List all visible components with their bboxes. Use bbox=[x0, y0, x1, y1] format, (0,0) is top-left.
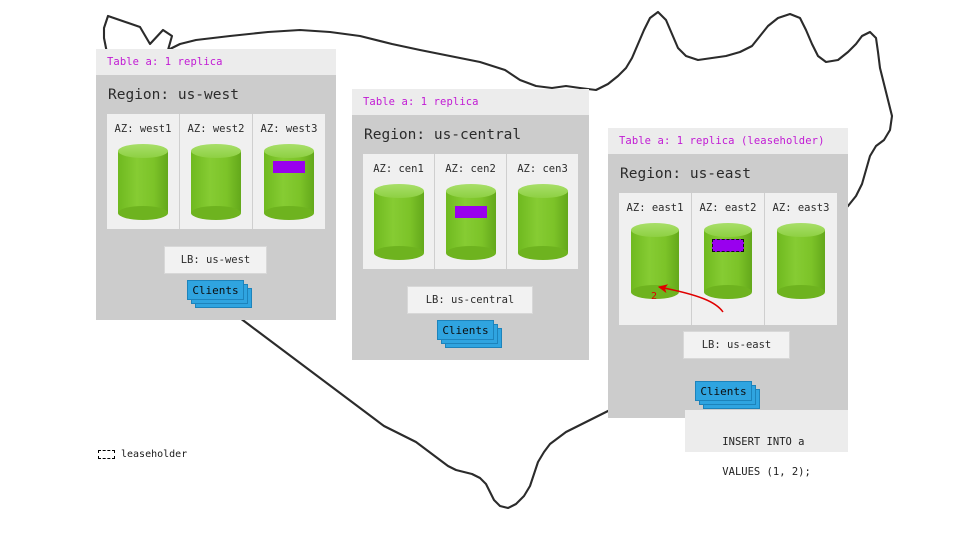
az-label-west3: AZ: west3 bbox=[253, 123, 325, 135]
az-label-east3: AZ: east3 bbox=[765, 202, 837, 214]
diagram-canvas: Table a: 1 replica Region: us-west AZ: w… bbox=[0, 0, 960, 540]
panel-header-us-central: Table a: 1 replica bbox=[352, 89, 589, 115]
replica-chip-cen2[interactable] bbox=[455, 206, 487, 218]
node-cylinder-west3[interactable] bbox=[264, 144, 314, 220]
az-label-cen1: AZ: cen1 bbox=[363, 163, 434, 175]
panel-body-us-central: Region: us-central AZ: cen1 AZ: cen2 bbox=[352, 115, 589, 360]
clients-stack-us-central[interactable]: Clients bbox=[437, 320, 503, 348]
az-cell-cen2[interactable]: AZ: cen2 bbox=[435, 154, 507, 269]
cylinder-body bbox=[191, 151, 241, 213]
cylinder-body bbox=[374, 191, 424, 253]
clients-button-us-west[interactable]: Clients bbox=[187, 280, 244, 300]
cylinder-bottom bbox=[518, 246, 568, 260]
node-cylinder-east2[interactable] bbox=[704, 223, 752, 299]
az-row-us-east: AZ: east1 AZ: east2 bbox=[619, 193, 837, 325]
az-row-us-central: AZ: cen1 AZ: cen2 bbox=[363, 154, 578, 269]
az-cell-east3[interactable]: AZ: east3 bbox=[765, 193, 837, 325]
replica-chip-west3[interactable] bbox=[273, 161, 305, 173]
arrow-label-2: 2 bbox=[651, 291, 657, 302]
az-cell-west3[interactable]: AZ: west3 bbox=[253, 114, 325, 229]
clients-stack-us-west[interactable]: Clients bbox=[187, 280, 253, 308]
az-row-us-west: AZ: west1 AZ: west2 bbox=[107, 114, 325, 229]
az-cell-cen3[interactable]: AZ: cen3 bbox=[507, 154, 578, 269]
cylinder-top bbox=[264, 144, 314, 158]
node-cylinder-cen1[interactable] bbox=[374, 184, 424, 260]
az-cell-west1[interactable]: AZ: west1 bbox=[107, 114, 180, 229]
az-label-east1: AZ: east1 bbox=[619, 202, 691, 214]
cylinder-bottom bbox=[446, 246, 496, 260]
node-cylinder-east1[interactable] bbox=[631, 223, 679, 299]
region-title-us-west: Region: us-west bbox=[107, 75, 325, 114]
cylinder-body bbox=[631, 230, 679, 292]
clients-stack-us-east[interactable]: Clients bbox=[695, 381, 761, 409]
load-balancer-us-east[interactable]: LB: us-east bbox=[683, 331, 790, 359]
node-cylinder-cen2[interactable] bbox=[446, 184, 496, 260]
az-label-cen3: AZ: cen3 bbox=[507, 163, 578, 175]
node-cylinder-west2[interactable] bbox=[191, 144, 241, 220]
cylinder-top bbox=[191, 144, 241, 158]
az-label-west2: AZ: west2 bbox=[180, 123, 252, 135]
node-cylinder-cen3[interactable] bbox=[518, 184, 568, 260]
sql-line-1: INSERT INTO a bbox=[722, 436, 804, 448]
region-panel-us-east[interactable]: Table a: 1 replica (leaseholder) Region:… bbox=[608, 128, 848, 418]
cylinder-bottom bbox=[264, 206, 314, 220]
az-label-east2: AZ: east2 bbox=[692, 202, 764, 214]
replica-chip-east2-leaseholder[interactable] bbox=[712, 239, 744, 252]
cylinder-top bbox=[631, 223, 679, 237]
load-balancer-us-central[interactable]: LB: us-central bbox=[407, 286, 533, 314]
panel-body-us-east: Region: us-east AZ: east1 AZ: east2 bbox=[608, 154, 848, 418]
cylinder-top bbox=[374, 184, 424, 198]
region-title-us-central: Region: us-central bbox=[363, 115, 578, 154]
leaseholder-swatch-icon bbox=[98, 450, 115, 459]
cylinder-body bbox=[446, 191, 496, 253]
region-panel-us-west[interactable]: Table a: 1 replica Region: us-west AZ: w… bbox=[96, 49, 336, 320]
cylinder-top bbox=[118, 144, 168, 158]
cylinder-bottom bbox=[777, 285, 825, 299]
cylinder-bottom bbox=[118, 206, 168, 220]
cylinder-bottom bbox=[191, 206, 241, 220]
clients-button-us-east[interactable]: Clients bbox=[695, 381, 752, 401]
az-cell-east2[interactable]: AZ: east2 bbox=[692, 193, 765, 325]
legend-label: leaseholder bbox=[121, 449, 187, 460]
cylinder-top bbox=[704, 223, 752, 237]
region-panel-us-central[interactable]: Table a: 1 replica Region: us-central AZ… bbox=[352, 89, 589, 360]
panel-header-us-east: Table a: 1 replica (leaseholder) bbox=[608, 128, 848, 154]
cylinder-top bbox=[518, 184, 568, 198]
sql-statement-box: INSERT INTO a VALUES (1, 2); bbox=[685, 410, 848, 452]
az-label-west1: AZ: west1 bbox=[107, 123, 179, 135]
panel-header-us-west: Table a: 1 replica bbox=[96, 49, 336, 75]
node-cylinder-east3[interactable] bbox=[777, 223, 825, 299]
panel-body-us-west: Region: us-west AZ: west1 AZ: west2 bbox=[96, 75, 336, 320]
cylinder-body bbox=[518, 191, 568, 253]
load-balancer-us-west[interactable]: LB: us-west bbox=[164, 246, 267, 274]
cylinder-top bbox=[777, 223, 825, 237]
az-cell-east1[interactable]: AZ: east1 bbox=[619, 193, 692, 325]
cylinder-bottom bbox=[704, 285, 752, 299]
node-cylinder-west1[interactable] bbox=[118, 144, 168, 220]
region-title-us-east: Region: us-east bbox=[619, 154, 837, 193]
legend: leaseholder bbox=[98, 449, 187, 460]
az-cell-cen1[interactable]: AZ: cen1 bbox=[363, 154, 435, 269]
clients-button-us-central[interactable]: Clients bbox=[437, 320, 494, 340]
cylinder-body bbox=[777, 230, 825, 292]
sql-line-2: VALUES (1, 2); bbox=[722, 466, 811, 478]
cylinder-top bbox=[446, 184, 496, 198]
az-label-cen2: AZ: cen2 bbox=[435, 163, 506, 175]
cylinder-bottom bbox=[374, 246, 424, 260]
cylinder-body bbox=[118, 151, 168, 213]
az-cell-west2[interactable]: AZ: west2 bbox=[180, 114, 253, 229]
